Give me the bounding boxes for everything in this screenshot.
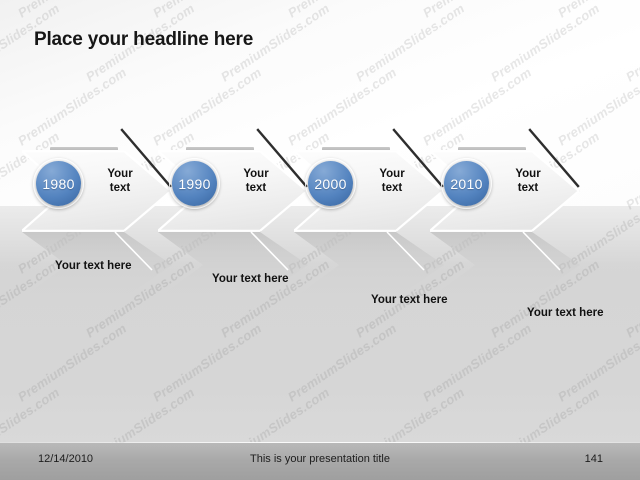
year-circle-1980[interactable]: 1980 [36, 161, 81, 206]
timeline-caption[interactable]: Your text here [371, 294, 447, 306]
chevron-inner-text-line1: Your [228, 167, 284, 181]
chevron-inner-text-line1: Your [364, 167, 420, 181]
year-label: 1980 [42, 176, 74, 192]
footer-page-number: 141 [0, 453, 640, 465]
chevron-inner-text-line2: text [228, 181, 284, 195]
timeline-caption[interactable]: Your text here [527, 307, 603, 319]
slide-canvas: PremiumSlides.comPremiumSlides.comPremiu… [0, 0, 640, 480]
chevron-inner-text-line2: text [364, 181, 420, 195]
chevron-inner-text-line1: Your [92, 167, 148, 181]
year-label: 2010 [450, 176, 482, 192]
year-circle-2000[interactable]: 2000 [308, 161, 353, 206]
chevron-inner-text-line2: text [500, 181, 556, 195]
year-label: 2000 [314, 176, 346, 192]
timeline-caption[interactable]: Your text here [212, 273, 288, 285]
chevron-inner-text[interactable]: Yourtext [228, 167, 284, 195]
chevron-inner-text-line1: Your [500, 167, 556, 181]
year-circle-1990[interactable]: 1990 [172, 161, 217, 206]
chevron-inner-text[interactable]: Yourtext [500, 167, 556, 195]
chevron-inner-text[interactable]: Yourtext [92, 167, 148, 195]
timeline-caption[interactable]: Your text here [55, 260, 131, 272]
chevron-inner-text[interactable]: Yourtext [364, 167, 420, 195]
year-label: 1990 [178, 176, 210, 192]
year-circle-2010[interactable]: 2010 [444, 161, 489, 206]
chevron-inner-text-line2: text [92, 181, 148, 195]
timeline-chevron-group: 1980Yourtext1990Yourtext2000Yourtext2010… [0, 0, 640, 350]
